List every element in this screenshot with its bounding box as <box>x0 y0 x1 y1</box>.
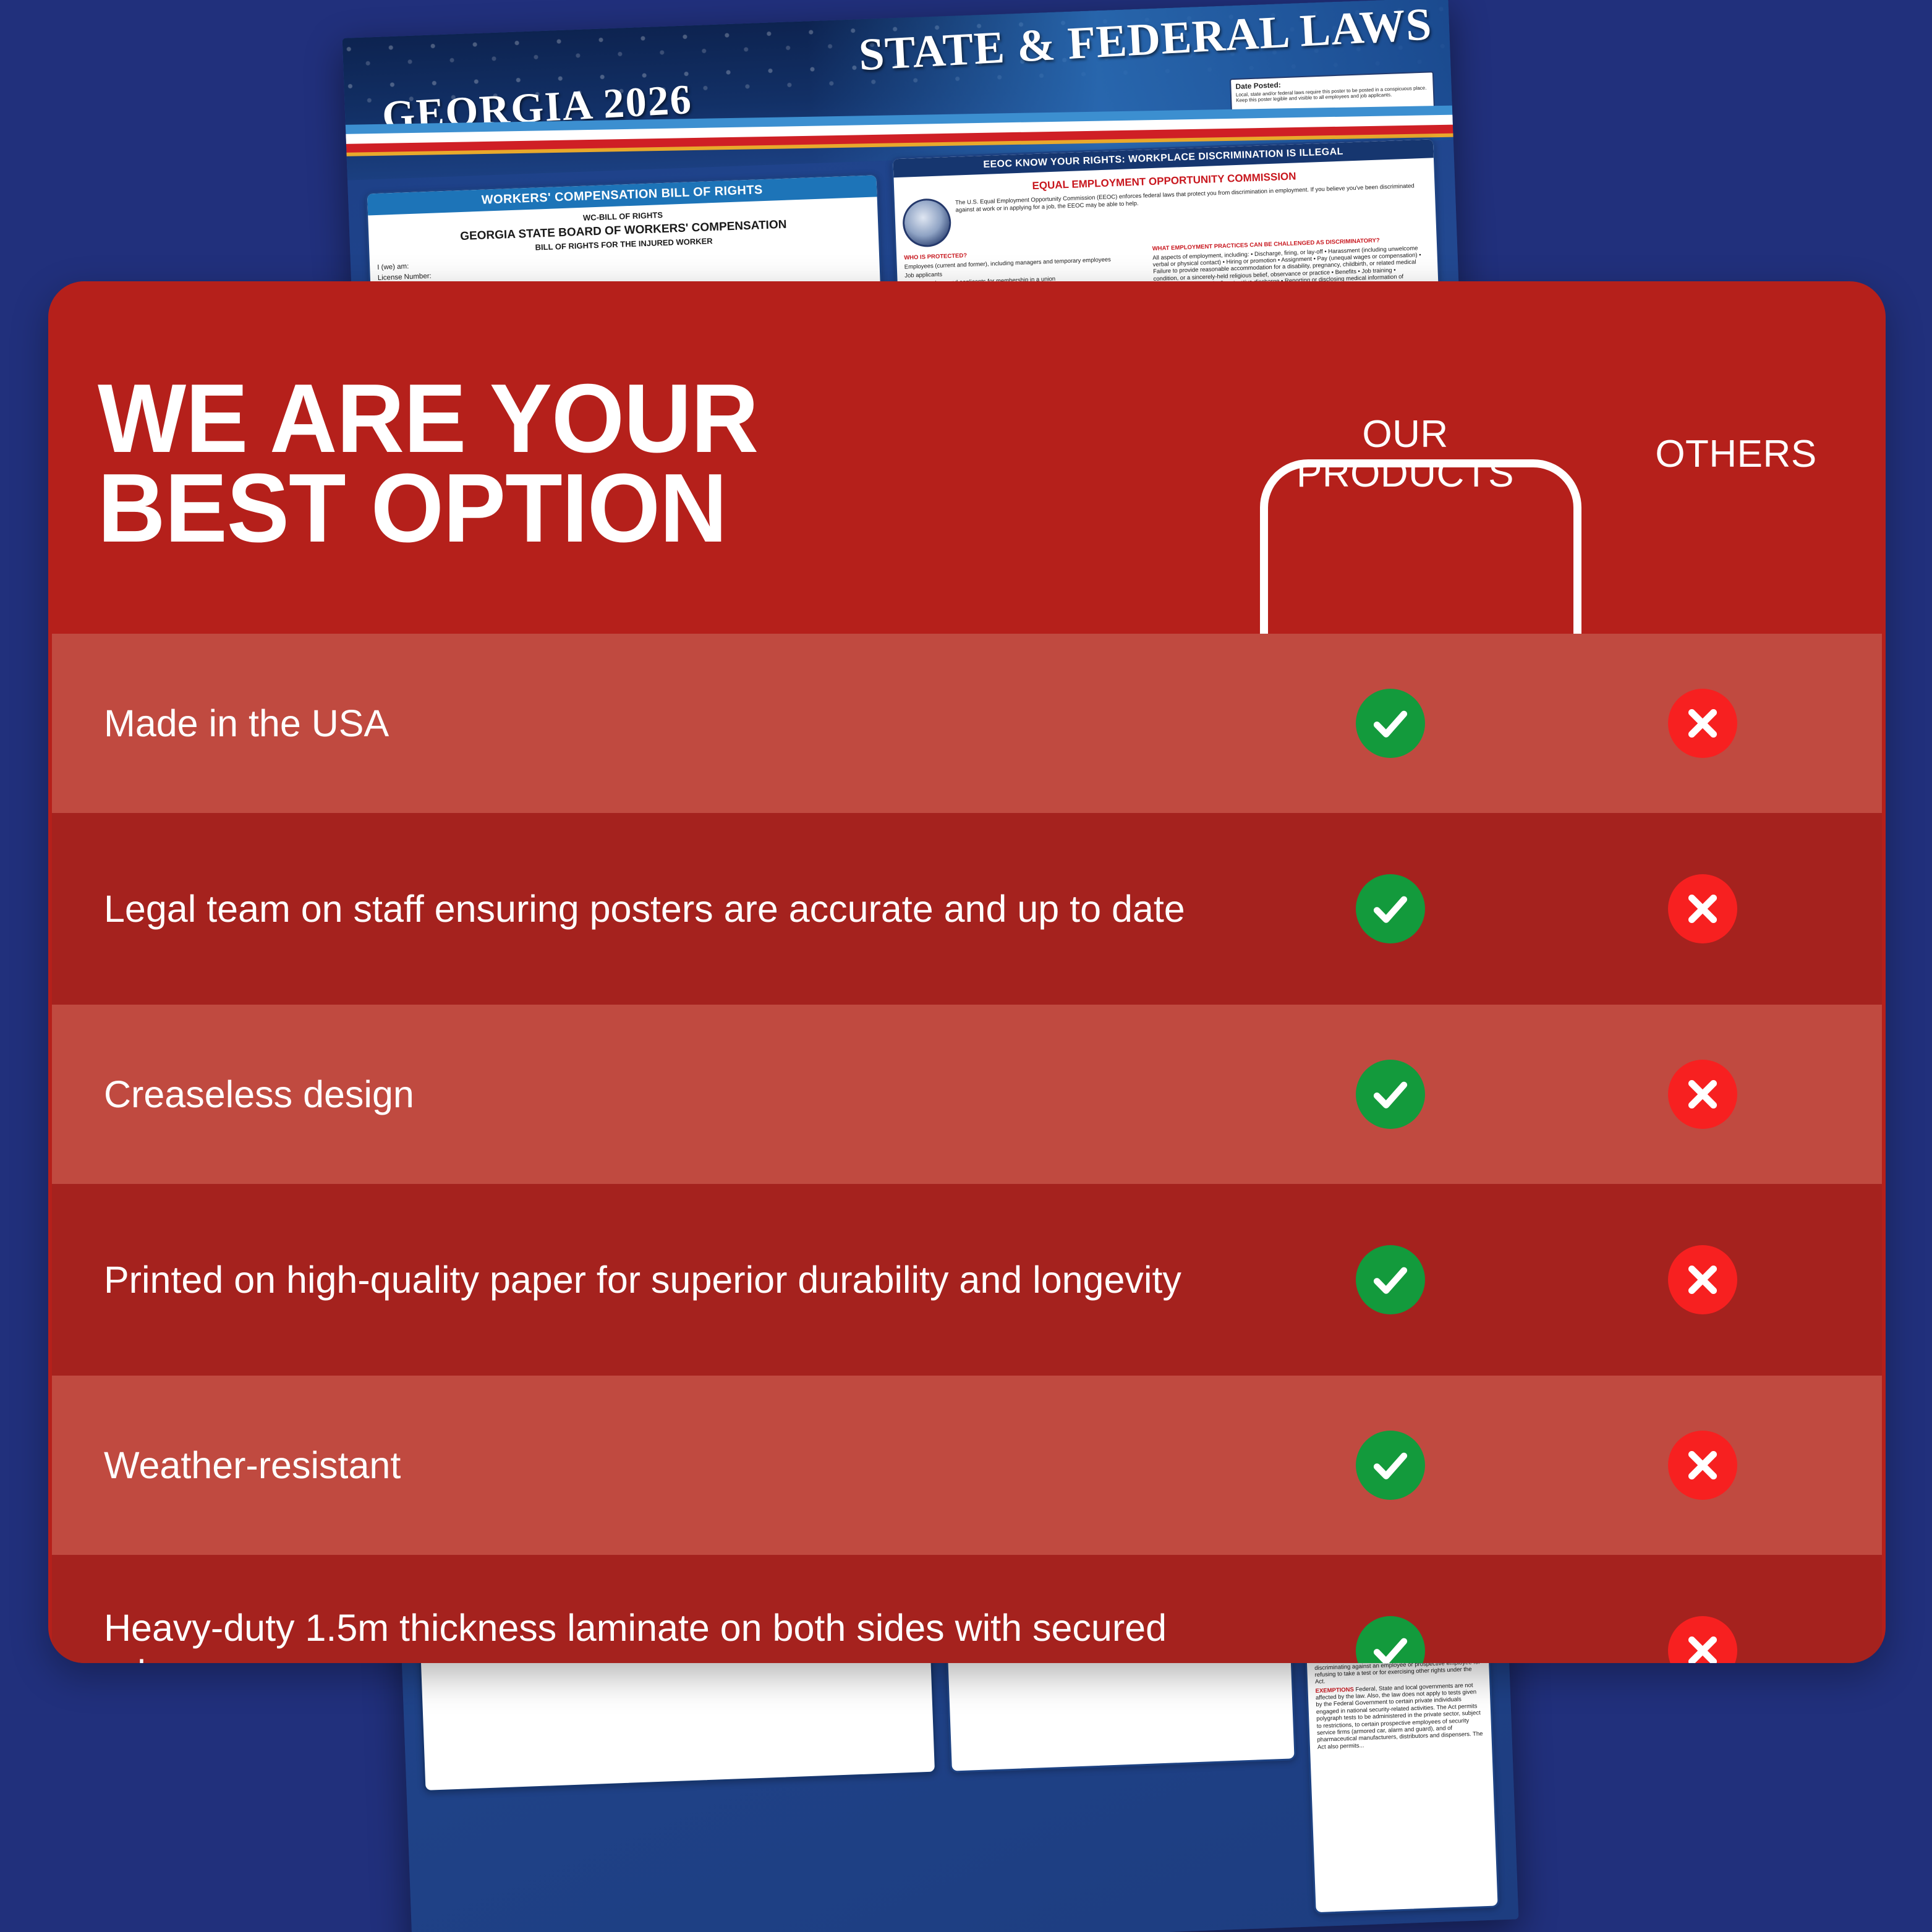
feature-ours-cell <box>1227 1245 1554 1314</box>
feature-ours-cell <box>1227 1616 1554 1663</box>
table-row: Weather-resistant <box>52 1376 1882 1555</box>
feature-others-cell <box>1554 1245 1851 1314</box>
feature-label: Printed on high-quality paper for superi… <box>52 1257 1227 1303</box>
eeoc-seal-icon <box>902 198 952 248</box>
table-row: Made in the USA <box>52 634 1882 813</box>
cross-icon <box>1668 874 1737 943</box>
check-icon <box>1356 689 1425 758</box>
headline-line-2: BEST OPTION <box>98 464 758 553</box>
cross-icon <box>1668 689 1737 758</box>
table-row: Legal team on staff ensuring posters are… <box>52 813 1882 1005</box>
cross-icon <box>1668 1431 1737 1500</box>
column-header-our-line1: OUR <box>1296 415 1514 454</box>
feature-label: Weather-resistant <box>52 1442 1227 1488</box>
check-icon <box>1356 1060 1425 1129</box>
check-icon <box>1356 874 1425 943</box>
feature-others-cell <box>1554 1431 1851 1500</box>
feature-others-cell <box>1554 874 1851 943</box>
column-header-our-products: OUR PRODUCTS <box>1223 281 1588 553</box>
feature-ours-cell <box>1227 874 1554 943</box>
table-row: Printed on high-quality paper for superi… <box>52 1184 1882 1376</box>
table-row: Heavy-duty 1.5m thickness laminate on bo… <box>52 1555 1882 1663</box>
page-title: WE ARE YOUR BEST OPTION <box>98 374 758 554</box>
feature-label: Heavy-duty 1.5m thickness laminate on bo… <box>52 1605 1227 1663</box>
cross-icon <box>1668 1060 1737 1129</box>
feature-ours-cell <box>1227 1431 1554 1500</box>
column-header-others-label: OTHERS <box>1655 435 1816 474</box>
check-icon <box>1356 1245 1425 1314</box>
cross-icon <box>1668 1245 1737 1314</box>
column-header-others: OTHERS <box>1588 281 1884 553</box>
feature-ours-cell <box>1227 1060 1554 1129</box>
table-row: Creaseless design <box>52 1005 1882 1184</box>
check-icon <box>1356 1616 1425 1663</box>
feature-others-cell <box>1554 1060 1851 1129</box>
date-posted-label: Date Posted: <box>1235 80 1281 91</box>
feature-label: Creaseless design <box>52 1071 1227 1117</box>
feature-comparison-table: Made in the USA Legal team on staff ensu… <box>52 634 1882 1663</box>
feature-others-cell <box>1554 689 1851 758</box>
feature-label: Made in the USA <box>52 700 1227 746</box>
column-header-our-line2: PRODUCTS <box>1296 454 1514 494</box>
cross-icon <box>1668 1616 1737 1663</box>
check-icon <box>1356 1431 1425 1500</box>
feature-label: Legal team on staff ensuring posters are… <box>52 886 1227 932</box>
feature-others-cell <box>1554 1616 1851 1663</box>
feature-ours-cell <box>1227 689 1554 758</box>
comparison-card: WE ARE YOUR BEST OPTION OUR PRODUCTS OTH… <box>48 281 1886 1663</box>
